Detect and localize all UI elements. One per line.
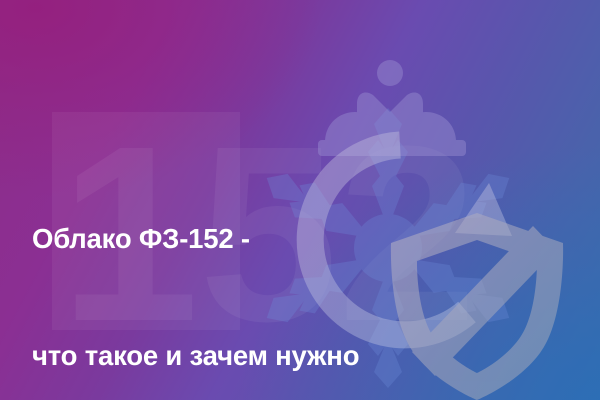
person-head-center	[377, 60, 403, 86]
page-title-line-1: Облако ФЗ-152 -	[32, 219, 452, 258]
page-title-line-2: что такое и зачем нужно	[32, 336, 452, 375]
banner: 152	[0, 0, 600, 400]
page-title: Облако ФЗ-152 - что такое и зачем нужно	[32, 141, 452, 400]
